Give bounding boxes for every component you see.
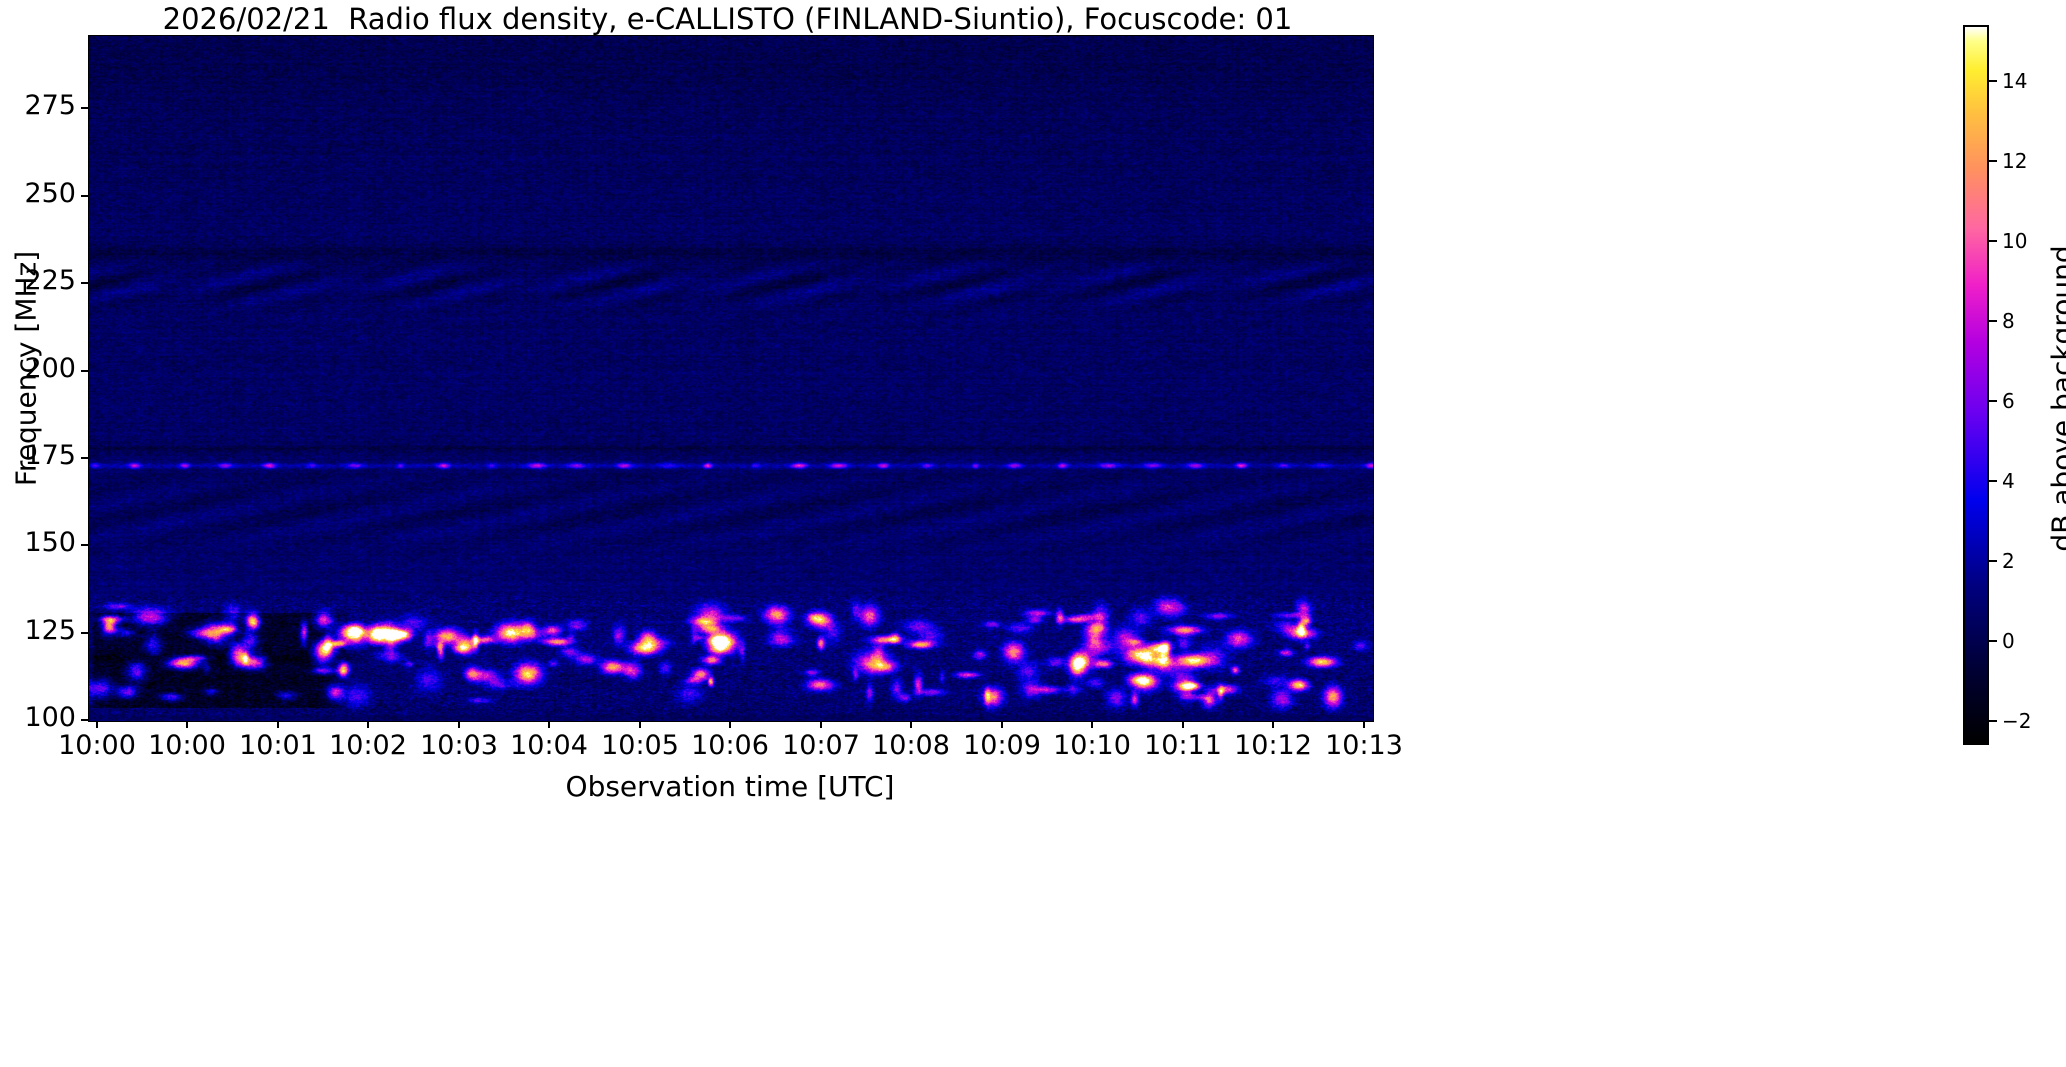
- x-tick-label: 10:02: [329, 730, 407, 761]
- x-tick-mark: [458, 721, 460, 728]
- colorbar-tick-label: 0: [2002, 629, 2015, 653]
- y-tick-mark: [81, 282, 88, 284]
- colorbar-tick-label: 6: [2002, 389, 2015, 413]
- x-tick-label: 10:09: [963, 730, 1041, 761]
- x-tick-label: 10:01: [239, 730, 317, 761]
- colorbar-tick-mark: [1989, 160, 1997, 162]
- x-tick-label: 10:06: [691, 730, 769, 761]
- colorbar-tick-label: 10: [2002, 229, 2027, 253]
- y-tick-mark: [81, 632, 88, 634]
- x-tick-mark: [1091, 721, 1093, 728]
- colorbar-tick-mark: [1989, 640, 1997, 642]
- x-tick-label: 10:04: [510, 730, 588, 761]
- x-tick-mark: [639, 721, 641, 728]
- x-tick-mark: [910, 721, 912, 728]
- x-tick-mark: [1272, 721, 1274, 728]
- x-tick-label: 10:11: [1144, 730, 1222, 761]
- y-tick-mark: [81, 370, 88, 372]
- colorbar-tick-mark: [1989, 400, 1997, 402]
- colorbar-tick-label: 4: [2002, 469, 2015, 493]
- colorbar-tick-label: 12: [2002, 149, 2027, 173]
- x-tick-label: 10:05: [601, 730, 679, 761]
- colorbar-label: dB above background: [2046, 79, 2066, 719]
- x-tick-mark: [367, 721, 369, 728]
- figure-title: 2026/02/21 Radio flux density, e-CALLIST…: [0, 2, 1455, 36]
- y-tick-mark: [81, 195, 88, 197]
- spectrogram-heatmap: [89, 36, 1373, 721]
- colorbar-tick-mark: [1989, 240, 1997, 242]
- y-tick-mark: [81, 107, 88, 109]
- colorbar-tick-label: 8: [2002, 309, 2015, 333]
- x-tick-label: 10:10: [1053, 730, 1131, 761]
- colorbar-tick-label: 14: [2002, 69, 2027, 93]
- x-tick-label: 10:07: [782, 730, 860, 761]
- y-tick-mark: [81, 719, 88, 721]
- colorbar-tick-mark: [1989, 80, 1997, 82]
- x-tick-label: 10:00: [58, 730, 136, 761]
- x-tick-label: 10:03: [420, 730, 498, 761]
- colorbar-tick-mark: [1989, 560, 1997, 562]
- spectrogram-figure: 2026/02/21 Radio flux density, e-CALLIST…: [0, 0, 2066, 1067]
- x-tick-mark: [1001, 721, 1003, 728]
- x-tick-label: 10:00: [148, 730, 226, 761]
- colorbar-tick-mark: [1989, 320, 1997, 322]
- x-tick-mark: [277, 721, 279, 728]
- x-tick-label: 10:08: [872, 730, 950, 761]
- y-tick-mark: [81, 544, 88, 546]
- x-tick-label: 10:13: [1325, 730, 1403, 761]
- colorbar-tick-label: 2: [2002, 549, 2015, 573]
- x-tick-mark: [1363, 721, 1365, 728]
- colorbar-gradient: [1965, 27, 1987, 743]
- x-tick-mark: [96, 721, 98, 728]
- x-tick-label: 10:12: [1234, 730, 1312, 761]
- x-tick-mark: [1182, 721, 1184, 728]
- x-tick-mark: [729, 721, 731, 728]
- spectrogram-axes: [88, 35, 1374, 722]
- x-tick-mark: [820, 721, 822, 728]
- y-tick-mark: [81, 457, 88, 459]
- colorbar-tick-label: −2: [2002, 709, 2031, 733]
- y-axis-label: Frequency [MHz]: [10, 19, 43, 719]
- colorbar-tick-mark: [1989, 480, 1997, 482]
- x-tick-mark: [548, 721, 550, 728]
- colorbar-tick-mark: [1989, 720, 1997, 722]
- x-axis-label: Observation time [UTC]: [88, 770, 1372, 803]
- colorbar: [1963, 25, 1989, 745]
- x-tick-mark: [186, 721, 188, 728]
